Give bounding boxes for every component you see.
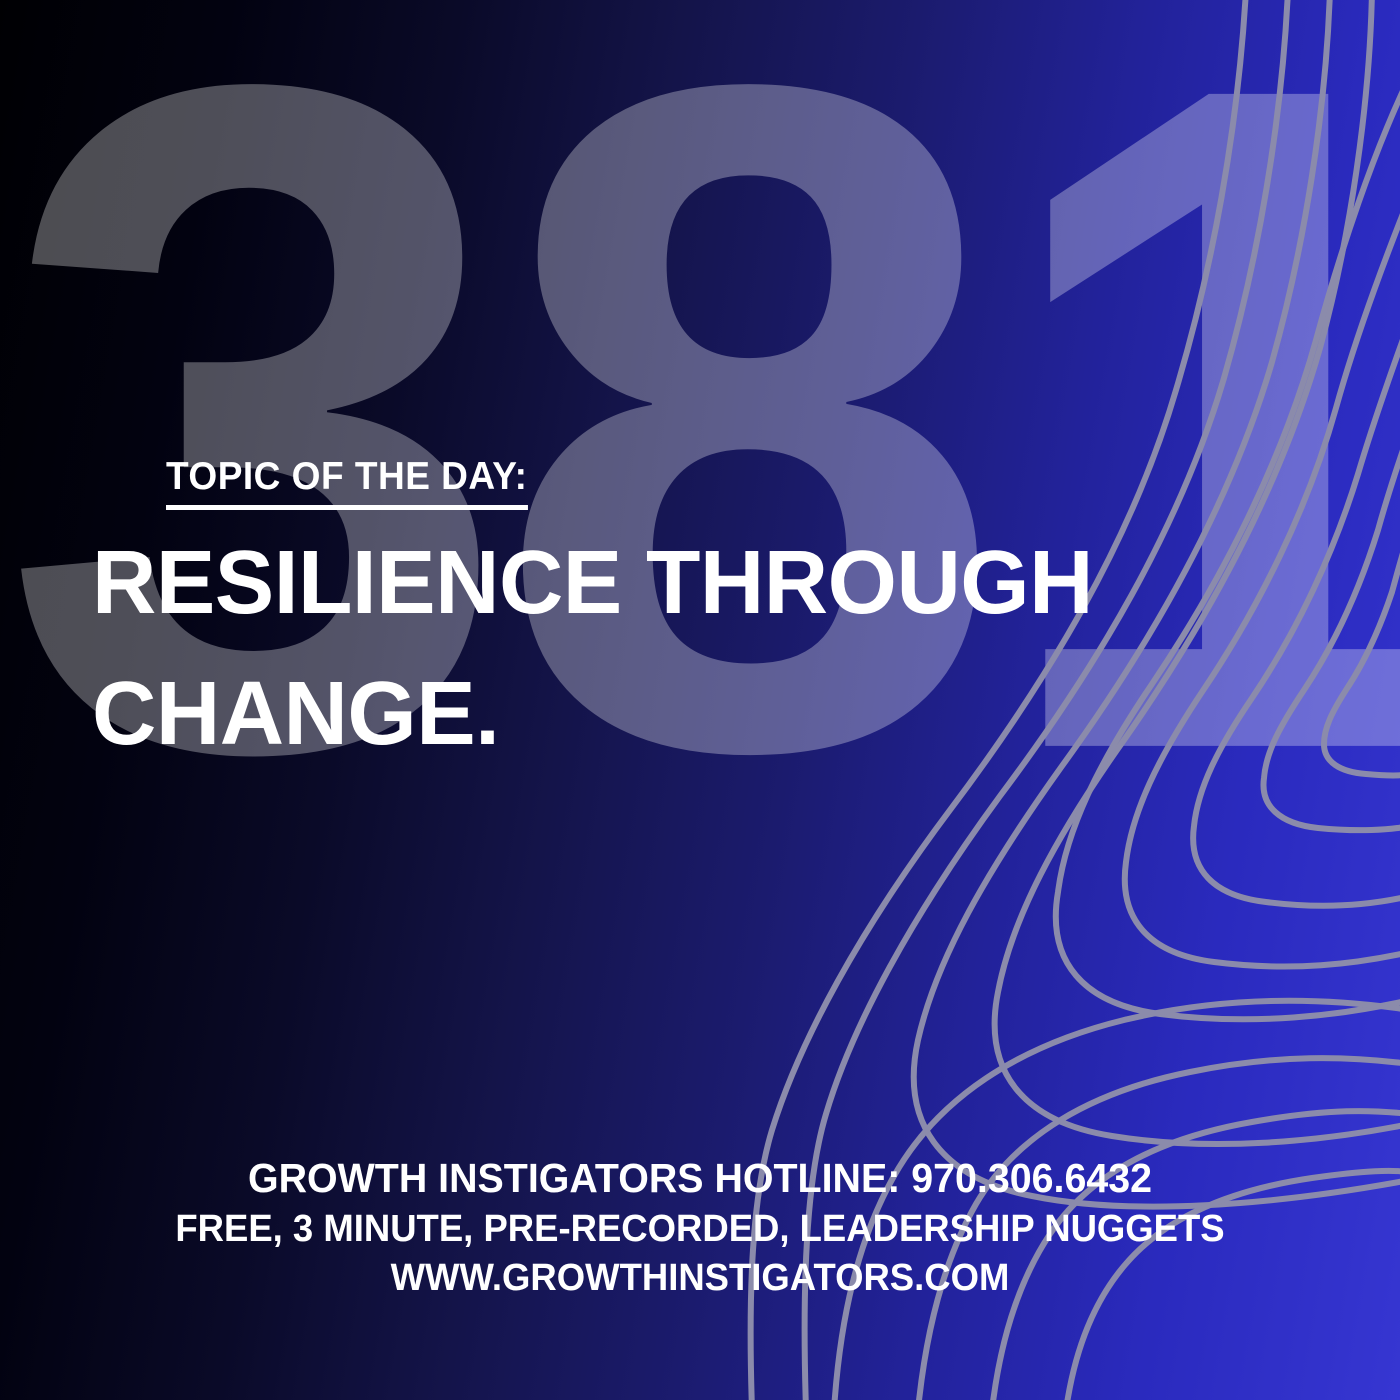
promo-poster: 381 TOPIC OF THE DAY: RESILIENCE THR [0,0,1400,1400]
topic-of-the-day-label: TOPIC OF THE DAY: [166,455,527,510]
tagline-text: FREE, 3 MINUTE, PRE-RECORDED, LEADERSHIP… [28,1205,1372,1254]
hotline-text: GROWTH INSTIGATORS HOTLINE: 970.306.6432 [28,1152,1372,1205]
topic-label-wrapper: TOPIC OF THE DAY: [166,455,547,510]
headline-line-2: CHANGE. [92,649,1260,780]
website-text[interactable]: WWW.GROWTHINSTIGATORS.COM [28,1254,1372,1303]
headline: RESILIENCE THROUGH CHANGE. [92,518,1260,781]
headline-line-1: RESILIENCE THROUGH [92,518,1260,649]
footer-contact-block: GROWTH INSTIGATORS HOTLINE: 970.306.6432… [0,1152,1400,1303]
